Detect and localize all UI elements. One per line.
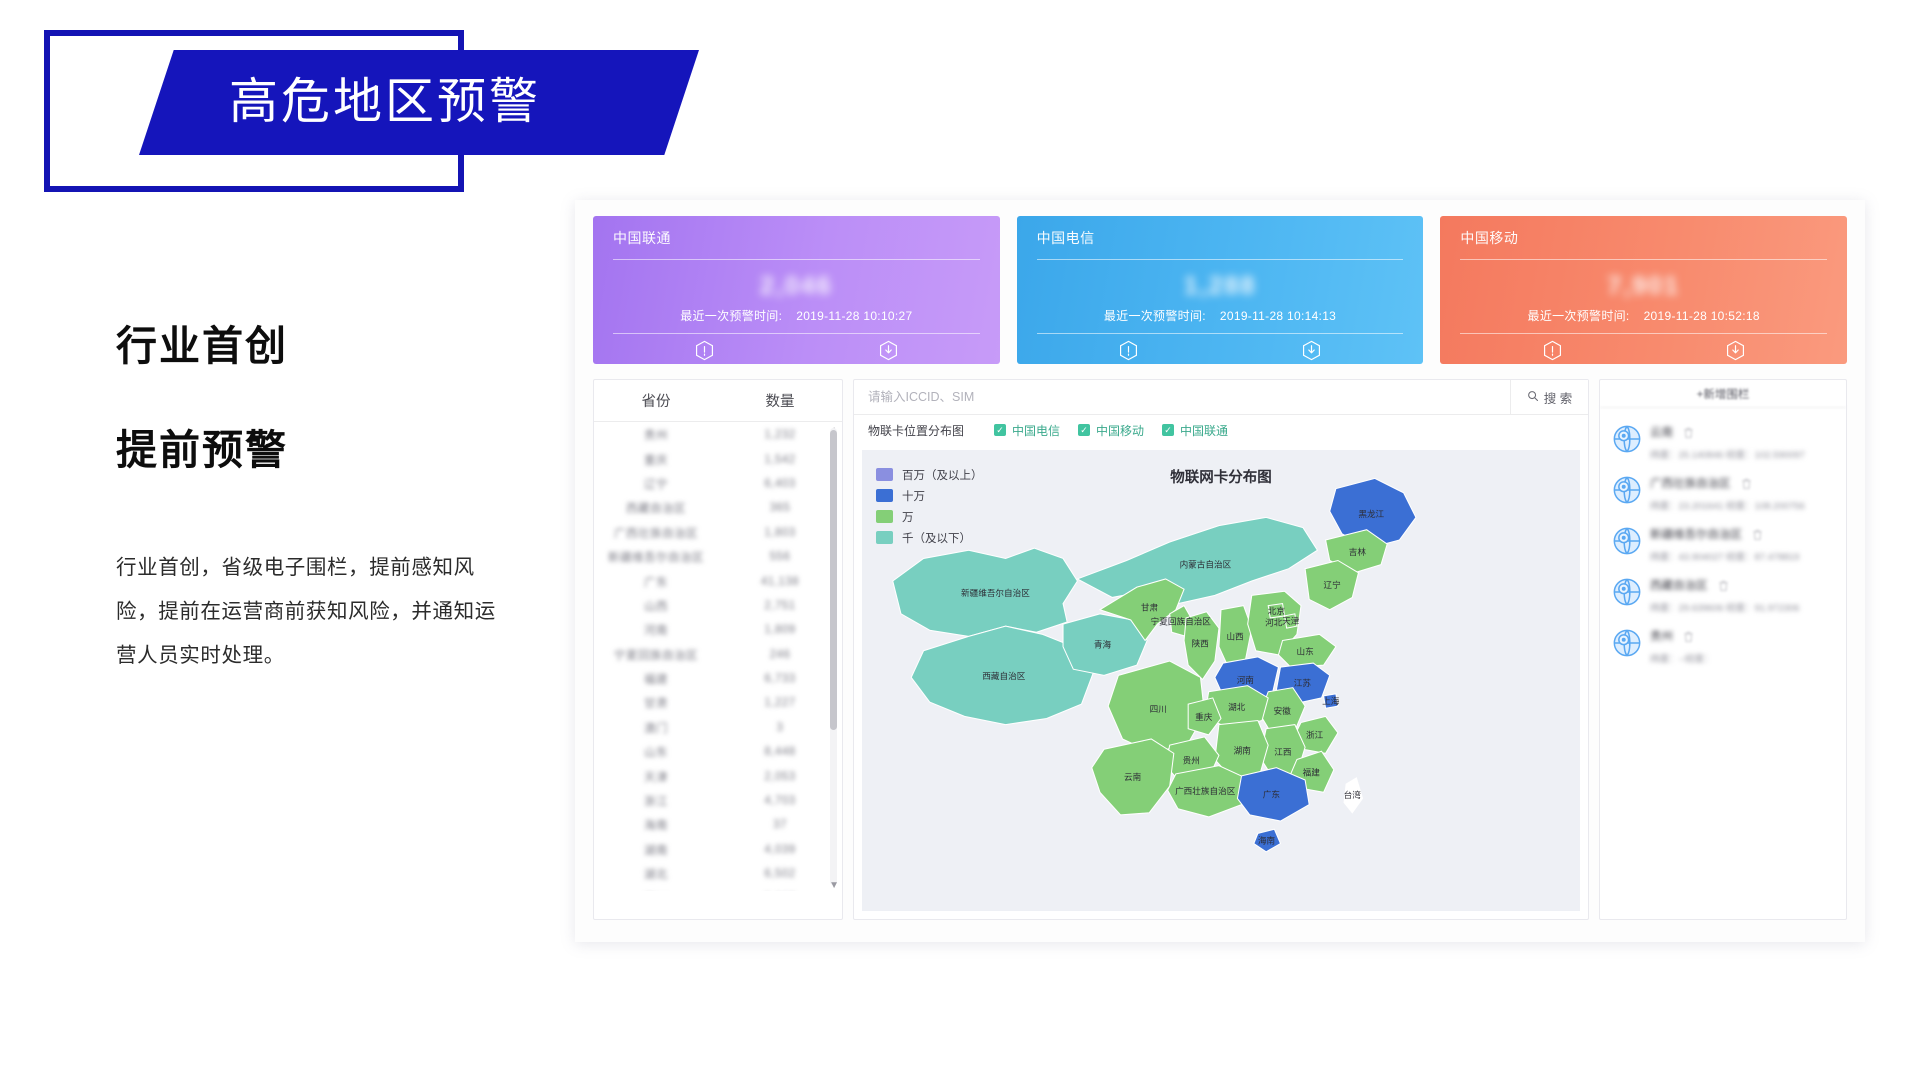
divider	[1037, 333, 1404, 334]
cell-quantity: 3	[718, 722, 842, 734]
cell-quantity: 365	[718, 502, 842, 514]
cell-province: 河南	[594, 622, 718, 638]
geofence-coordinates: 纬度：43.904027 经度：87.478819	[1650, 549, 1836, 563]
map-region-label: 甘肃	[1141, 602, 1159, 613]
table-row[interactable]: 贵州1,232	[594, 423, 842, 447]
map-region-label: 辽宁	[1323, 579, 1340, 590]
alert-up-icon[interactable]	[1460, 340, 1643, 364]
search-button-label: 搜 索	[1544, 388, 1572, 407]
kpi-operator-name: 中国移动	[1460, 228, 1827, 248]
cell-quantity: 6,502	[718, 868, 842, 880]
table-row[interactable]: 宁夏回族自治区246	[594, 643, 842, 667]
table-row[interactable]: 山西2,751	[594, 594, 842, 618]
kpi-icon-row	[1460, 340, 1827, 364]
cell-quantity: 556	[718, 551, 842, 563]
map-region-label: 河北	[1265, 616, 1283, 627]
geo-fence-icon	[1612, 424, 1642, 454]
checkbox-unicom[interactable]: ✓ 中国联通	[1162, 422, 1228, 439]
map-region-label: 山西	[1226, 631, 1244, 641]
geofence-list-item[interactable]: 新疆维吾尔自治区纬度：43.904027 经度：87.478819	[1600, 519, 1846, 570]
cell-quantity: 37	[718, 819, 842, 831]
table-header-row: 省份 数量	[594, 380, 842, 422]
map-region-label: 上海	[1322, 695, 1340, 706]
table-row[interactable]: 广西壮族自治区1,803	[594, 521, 842, 545]
kpi-operator-name: 中国联通	[613, 228, 980, 248]
cell-quantity: 1,542	[718, 454, 842, 466]
map-region-label: 西藏自治区	[982, 670, 1025, 681]
alert-down-icon[interactable]	[1644, 340, 1827, 364]
china-map-svg[interactable]: 黑龙江吉林辽宁内蒙古自治区新疆维吾尔自治区西藏自治区青海甘肃宁夏回族自治区陕西山…	[862, 450, 1580, 911]
map-panel: 搜 索 物联卡位置分布图 ✓ 中国电信 ✓ 中国移动 ✓ 中国联通	[853, 379, 1589, 920]
divider	[1460, 333, 1827, 334]
table-row[interactable]: 河南1,809	[594, 618, 842, 642]
map-region-label: 湖南	[1234, 745, 1252, 756]
checkbox-checked-icon: ✓	[1162, 424, 1174, 436]
cell-province: 湖南	[594, 842, 718, 858]
map-region-label: 广西壮族自治区	[1175, 785, 1236, 796]
divider	[613, 259, 980, 260]
kpi-timestamp-row: 最近一次预警时间:2019-11-28 10:14:13	[1037, 307, 1404, 324]
checkbox-mobile[interactable]: ✓ 中国移动	[1078, 422, 1144, 439]
cell-quantity: 2,053	[718, 771, 842, 783]
checkbox-label: 中国电信	[1012, 422, 1060, 439]
search-input[interactable]	[854, 380, 1510, 414]
china-map-chart[interactable]: 物联网卡分布图 百万（及以上）十万万千（及以下） 黑龙江吉林辽宁内蒙古自治区新疆…	[862, 450, 1580, 911]
description-paragraph: 行业首创，省级电子围栏，提前感知风险，提前在运营商前获知风险，并通知运营人员实时…	[116, 546, 516, 678]
kpi-time-value: 2019-11-28 10:10:27	[796, 309, 912, 323]
geofence-coordinates: 纬度：25.140846 经度：102.590097	[1650, 447, 1836, 461]
geofence-name: 贵州	[1650, 628, 1673, 644]
divider	[613, 333, 980, 334]
kpi-time-value: 2019-11-28 10:52:18	[1644, 309, 1760, 323]
divider	[1460, 259, 1827, 260]
add-fence-button[interactable]: +新增围栏	[1600, 380, 1846, 408]
cell-quantity: 8,448	[718, 746, 842, 758]
geo-fence-icon	[1612, 526, 1642, 556]
table-row[interactable]: 天津2,053	[594, 764, 842, 788]
kpi-card-mobile[interactable]: 中国移动 7,901 最近一次预警时间:2019-11-28 10:52:18	[1440, 216, 1847, 364]
cell-province: 宁夏回族自治区	[594, 647, 718, 663]
cell-quantity: 1,809	[718, 624, 842, 636]
banner-slab: 高危地区预警	[139, 50, 699, 155]
kpi-value: 2,046	[613, 272, 980, 301]
cell-province: 辽宁	[594, 476, 718, 492]
column-header-province: 省份	[594, 390, 718, 411]
cell-province: 贵州	[594, 427, 718, 443]
checkbox-label: 中国移动	[1096, 422, 1144, 439]
kpi-card-unicom[interactable]: 中国联通 2,046 最近一次预警时间:2019-11-28 10:10:27	[593, 216, 1000, 364]
kpi-value: 1,288	[1037, 272, 1404, 301]
trash-icon[interactable]	[1741, 477, 1752, 489]
table-row[interactable]: 湖南4,039	[594, 838, 842, 862]
cell-quantity: 1,803	[718, 527, 842, 539]
search-icon	[1527, 390, 1539, 405]
kpi-icon-row	[613, 340, 980, 364]
kpi-value: 7,901	[1460, 272, 1827, 301]
kpi-time-value: 2019-11-28 10:14:13	[1220, 309, 1336, 323]
heading-secondary: 提前预警	[116, 416, 288, 476]
table-row[interactable]: 湖北6,502	[594, 862, 842, 886]
banner-title: 高危地区预警	[139, 78, 541, 127]
table-scrollbar[interactable]	[830, 428, 837, 885]
cell-province: 广西壮族自治区	[594, 525, 718, 541]
table-row[interactable]: 海南37	[594, 813, 842, 837]
cell-quantity: 246	[718, 649, 842, 661]
map-region-label: 浙江	[1306, 729, 1324, 740]
kpi-card-row: 中国联通 2,046 最近一次预警时间:2019-11-28 10:10:27 …	[593, 216, 1847, 364]
cell-quantity: 4,703	[718, 795, 842, 807]
slide-root: 高危地区预警 行业首创 提前预警 行业首创，省级电子围栏，提前感知风险，提前在运…	[0, 0, 1920, 1080]
table-row[interactable]: 广东41,138	[594, 569, 842, 593]
map-region-label: 陕西	[1192, 638, 1210, 649]
table-row[interactable]: 新疆维吾尔自治区556	[594, 545, 842, 569]
province-table-panel: 省份 数量 贵州1,232重庆1,542辽宁6,403西藏自治区365广西壮族自…	[593, 379, 843, 920]
cell-province: 甘肃	[594, 695, 718, 711]
map-region-label: 新疆维吾尔自治区	[961, 587, 1030, 598]
table-row[interactable]: 甘肃1,227	[594, 691, 842, 715]
map-region-label: 江西	[1274, 747, 1292, 757]
map-filter-label: 物联卡位置分布图	[868, 422, 964, 439]
table-body[interactable]: 贵州1,232重庆1,542辽宁6,403西藏自治区365广西壮族自治区1,80…	[594, 423, 842, 891]
map-region-label: 北京	[1268, 605, 1286, 616]
map-region-label: 四川	[1150, 704, 1167, 714]
map-region-label: 天津	[1282, 616, 1300, 626]
map-region-label: 湖北	[1228, 702, 1246, 712]
cell-quantity: 2,751	[718, 600, 842, 612]
title-banner: 高危地区预警	[44, 30, 464, 192]
search-button[interactable]: 搜 索	[1510, 380, 1588, 414]
kpi-time-label: 最近一次预警时间:	[680, 309, 782, 323]
cell-quantity: 4,039	[718, 844, 842, 856]
table-row[interactable]: 浙江4,703	[594, 789, 842, 813]
checkbox-label: 中国联通	[1180, 422, 1228, 439]
checkbox-checked-icon: ✓	[1078, 424, 1090, 436]
map-region-label: 云南	[1124, 771, 1142, 782]
cell-province: 山西	[594, 598, 718, 614]
geofence-list-item[interactable]: 云南纬度：25.140846 经度：102.590097	[1600, 417, 1846, 468]
table-row[interactable]: 四川5,867	[594, 886, 842, 891]
table-row[interactable]: 辽宁6,403	[594, 472, 842, 496]
cell-quantity: 6,733	[718, 673, 842, 685]
cell-province: 重庆	[594, 452, 718, 468]
map-region-label: 内蒙古自治区	[1180, 559, 1232, 570]
map-region-label: 贵州	[1183, 755, 1200, 766]
alert-up-icon[interactable]	[613, 340, 796, 364]
table-row[interactable]: 福建6,733	[594, 667, 842, 691]
scrollbar-thumb[interactable]	[830, 430, 837, 730]
map-region-label: 海南	[1258, 834, 1276, 845]
cell-province: 澳门	[594, 720, 718, 736]
map-region-label: 重庆	[1195, 711, 1213, 722]
heading-primary: 行业首创	[116, 312, 288, 372]
kpi-time-label: 最近一次预警时间:	[1528, 309, 1630, 323]
map-region-label: 福建	[1303, 767, 1321, 778]
map-filter-row: 物联卡位置分布图 ✓ 中国电信 ✓ 中国移动 ✓ 中国联通	[854, 415, 1588, 445]
cell-province: 山东	[594, 744, 718, 760]
geo-fence-icon	[1612, 475, 1642, 505]
scroll-down-arrow[interactable]: ▼	[829, 880, 839, 891]
cell-province: 天津	[594, 769, 718, 785]
cell-province: 浙江	[594, 793, 718, 809]
search-bar: 搜 索	[854, 380, 1588, 415]
geo-fence-icon	[1612, 628, 1642, 658]
checkbox-telecom[interactable]: ✓ 中国电信	[994, 422, 1060, 439]
alert-up-icon[interactable]	[1037, 340, 1220, 364]
map-region-label: 吉林	[1349, 546, 1367, 557]
kpi-card-telecom[interactable]: 中国电信 1,288 最近一次预警时间:2019-11-28 10:14:13	[1017, 216, 1424, 364]
alert-down-icon[interactable]	[1220, 340, 1403, 364]
map-region-label: 河南	[1237, 674, 1255, 685]
column-header-quantity: 数量	[718, 390, 842, 411]
cell-quantity: 6,403	[718, 478, 842, 490]
geofence-name: 云南	[1650, 424, 1673, 440]
table-footer	[594, 893, 842, 919]
cell-quantity: 41,138	[718, 576, 842, 588]
table-row[interactable]: 西藏自治区365	[594, 496, 842, 520]
map-region-label: 山东	[1296, 646, 1314, 657]
kpi-timestamp-row: 最近一次预警时间:2019-11-28 10:52:18	[1460, 307, 1827, 324]
map-region-label: 安徽	[1274, 705, 1292, 716]
trash-icon[interactable]	[1683, 426, 1694, 438]
cell-province: 湖北	[594, 866, 718, 882]
geofence-list-item[interactable]: 贵州纬度：--经度：	[1600, 621, 1846, 672]
map-region-label: 宁夏回族自治区	[1151, 616, 1212, 627]
map-region-label: 台湾	[1344, 789, 1362, 800]
cell-province: 广东	[594, 574, 718, 590]
geofence-list: 云南纬度：25.140846 经度：102.590097广西壮族自治区纬度：23…	[1600, 409, 1846, 919]
checkbox-checked-icon: ✓	[994, 424, 1006, 436]
map-region-label: 广东	[1263, 789, 1281, 800]
kpi-timestamp-row: 最近一次预警时间:2019-11-28 10:10:27	[613, 307, 980, 324]
divider	[1037, 259, 1404, 260]
table-row[interactable]: 山东8,448	[594, 740, 842, 764]
alert-down-icon[interactable]	[796, 340, 979, 364]
cell-quantity: 1,227	[718, 697, 842, 709]
kpi-operator-name: 中国电信	[1037, 228, 1404, 248]
cell-province: 福建	[594, 671, 718, 687]
geo-fence-icon	[1612, 577, 1642, 607]
trash-icon[interactable]	[1752, 528, 1763, 540]
geofence-name: 新疆维吾尔自治区	[1650, 526, 1742, 542]
cell-province: 新疆维吾尔自治区	[594, 549, 718, 565]
trash-icon[interactable]	[1718, 579, 1729, 591]
kpi-time-label: 最近一次预警时间:	[1104, 309, 1206, 323]
geofence-name: 西藏自治区	[1650, 577, 1708, 593]
trash-icon[interactable]	[1683, 630, 1694, 642]
geofence-coordinates: 纬度：23.201641 经度：108.200756	[1650, 498, 1836, 512]
geofence-name: 广西壮族自治区	[1650, 475, 1731, 491]
cell-province: 西藏自治区	[594, 500, 718, 516]
kpi-icon-row	[1037, 340, 1404, 364]
cell-quantity: 1,232	[718, 429, 842, 441]
table-row[interactable]: 澳门3	[594, 716, 842, 740]
geofence-panel: +新增围栏 云南纬度：25.140846 经度：102.590097广西壮族自治…	[1599, 379, 1847, 920]
geofence-list-item[interactable]: 西藏自治区纬度：29.639606 经度：91.972306	[1600, 570, 1846, 621]
map-region-label: 江苏	[1294, 677, 1312, 688]
app-window: 中国联通 2,046 最近一次预警时间:2019-11-28 10:10:27 …	[575, 200, 1865, 942]
geofence-list-item[interactable]: 广西壮族自治区纬度：23.201641 经度：108.200756	[1600, 468, 1846, 519]
geofence-coordinates: 纬度：29.639606 经度：91.972306	[1650, 600, 1836, 614]
geofence-coordinates: 纬度：--经度：	[1650, 651, 1836, 665]
table-row[interactable]: 重庆1,542	[594, 447, 842, 471]
cell-province: 海南	[594, 817, 718, 833]
map-region-label: 青海	[1094, 638, 1112, 649]
map-region-label: 黑龙江	[1358, 508, 1384, 519]
